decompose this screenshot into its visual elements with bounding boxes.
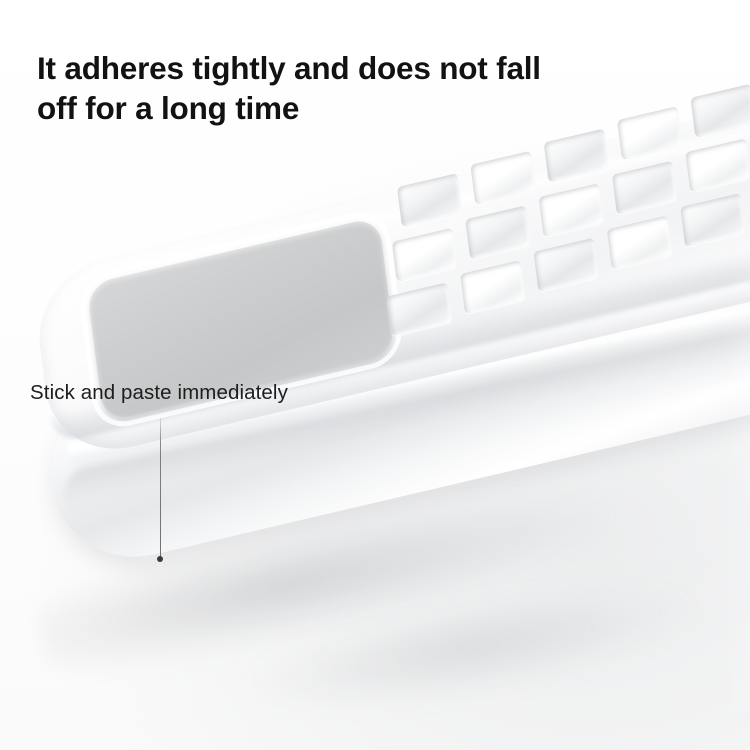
key-cutout xyxy=(680,193,745,247)
annotation-caption: Stick and paste immediately xyxy=(30,380,288,405)
key-cutout xyxy=(460,260,525,314)
key-cutout xyxy=(470,151,535,205)
key-cutout xyxy=(397,173,462,227)
product-illustration xyxy=(0,240,750,710)
product-promo-image: It adheres tightly and does not fall off… xyxy=(0,0,750,750)
key-cutout xyxy=(544,128,609,182)
key-cutout xyxy=(607,215,672,269)
key-cutout xyxy=(690,84,750,138)
key-cutout xyxy=(685,138,750,192)
page-title: It adheres tightly and does not fall off… xyxy=(37,48,657,128)
key-cutout xyxy=(612,161,677,215)
annotation-leader-dot xyxy=(157,556,163,562)
key-cutout xyxy=(539,183,604,237)
key-cutout xyxy=(465,205,530,259)
key-cutout xyxy=(533,238,598,292)
annotation-leader-line xyxy=(160,418,161,560)
